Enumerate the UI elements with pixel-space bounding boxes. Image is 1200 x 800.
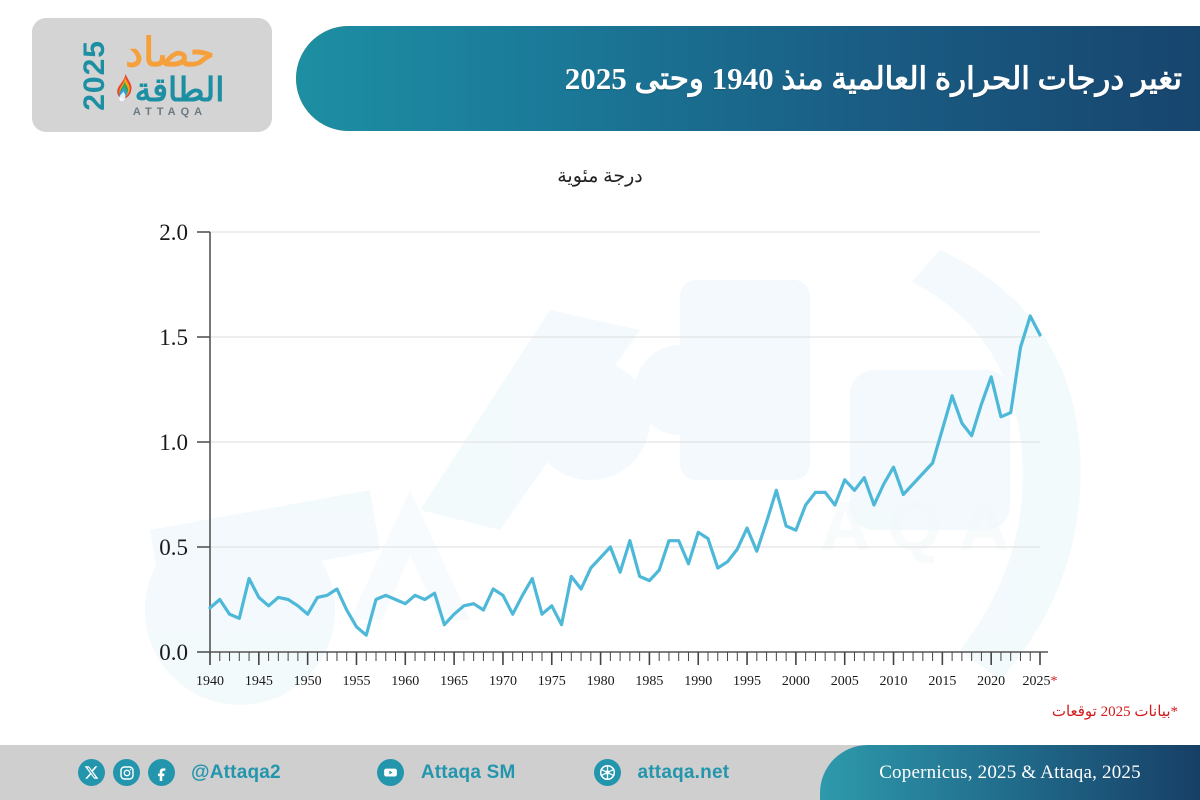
source-label: Copernicus, 2025 & Attaqa, 2025: [879, 762, 1141, 784]
youtube-icon[interactable]: [377, 759, 404, 786]
source-band: Copernicus, 2025 & Attaqa, 2025: [820, 745, 1200, 800]
x-tick-label: 1985: [635, 674, 663, 689]
facebook-icon[interactable]: [148, 759, 175, 786]
youtube-label: Attaqa SM: [421, 762, 516, 784]
social-handles-group: @Attaqa2: [78, 759, 281, 786]
x-tick-label: 2010: [880, 674, 908, 689]
social-handle-label: @Attaqa2: [191, 762, 281, 784]
y-tick-label: 1.5: [159, 325, 188, 350]
y-tick-label: 0.5: [159, 535, 188, 560]
x-tick-label: 2025*: [1023, 674, 1058, 689]
youtube-group: Attaqa SM: [377, 759, 516, 786]
forecast-footnote: *بيانات 2025 توقعات: [1052, 702, 1178, 721]
x-tick-label: 2020: [977, 674, 1005, 689]
x-tick-label: 1995: [733, 674, 761, 689]
x-tick-label: 1950: [294, 674, 322, 689]
chart-series-group: [210, 316, 1040, 635]
x-tick-label: 1945: [245, 674, 273, 689]
chart-gridlines: [210, 232, 1040, 547]
y-axis-unit-label: درجة مئوية: [0, 165, 1200, 188]
x-tick-label: 1970: [489, 674, 517, 689]
temperature-series-line: [210, 316, 1040, 635]
footer-social-area: @Attaqa2 Attaqa SM: [0, 745, 820, 800]
chart-container: 0.00.51.01.52.0 194019451950195519601965…: [0, 200, 1200, 700]
flame-icon: [116, 74, 133, 104]
x-tick-label: 1960: [391, 674, 419, 689]
infographic-root: A Q A 2025 حصاد الطاقة ATTAQA: [0, 0, 1200, 800]
x-tick-label: 1965: [440, 674, 468, 689]
logo-secondary-word: الطاقة: [135, 73, 225, 106]
attaqa-logo: 2025 حصاد الطاقة ATTAQA: [32, 18, 272, 132]
x-tick-label: 2005: [831, 674, 859, 689]
x-tick-label: 1955: [342, 674, 370, 689]
x-tick-label: 1940: [196, 674, 224, 689]
chart-x-axis: [210, 652, 1048, 665]
logo-latin-word: ATTAQA: [133, 107, 207, 118]
x-tick-label: 1975: [538, 674, 566, 689]
website-group: attaqa.net: [594, 759, 730, 786]
instagram-icon[interactable]: [113, 759, 140, 786]
y-tick-label: 1.0: [159, 430, 188, 455]
logo-primary-word: حصاد: [125, 33, 214, 73]
website-label: attaqa.net: [638, 762, 730, 784]
y-tick-label: 0.0: [159, 640, 188, 665]
page-title: تغير درجات الحرارة العالمية منذ 1940 وحت…: [565, 59, 1200, 99]
x-tick-label: 1980: [587, 674, 615, 689]
x-tick-label: 1990: [684, 674, 712, 689]
chart-y-axis: 0.00.51.01.52.0: [159, 220, 210, 665]
title-banner: تغير درجات الحرارة العالمية منذ 1940 وحت…: [296, 26, 1200, 131]
y-tick-label: 2.0: [159, 220, 188, 245]
x-tick-label: 2015: [928, 674, 956, 689]
x-tick-label: 2000: [782, 674, 810, 689]
temperature-line-chart: 0.00.51.01.52.0 194019451950195519601965…: [0, 200, 1200, 700]
logo-year: 2025: [80, 40, 110, 111]
chart-x-tick-labels: 1940194519501955196019651970197519801985…: [196, 674, 1058, 689]
globe-icon[interactable]: [594, 759, 621, 786]
x-twitter-icon[interactable]: [78, 759, 105, 786]
